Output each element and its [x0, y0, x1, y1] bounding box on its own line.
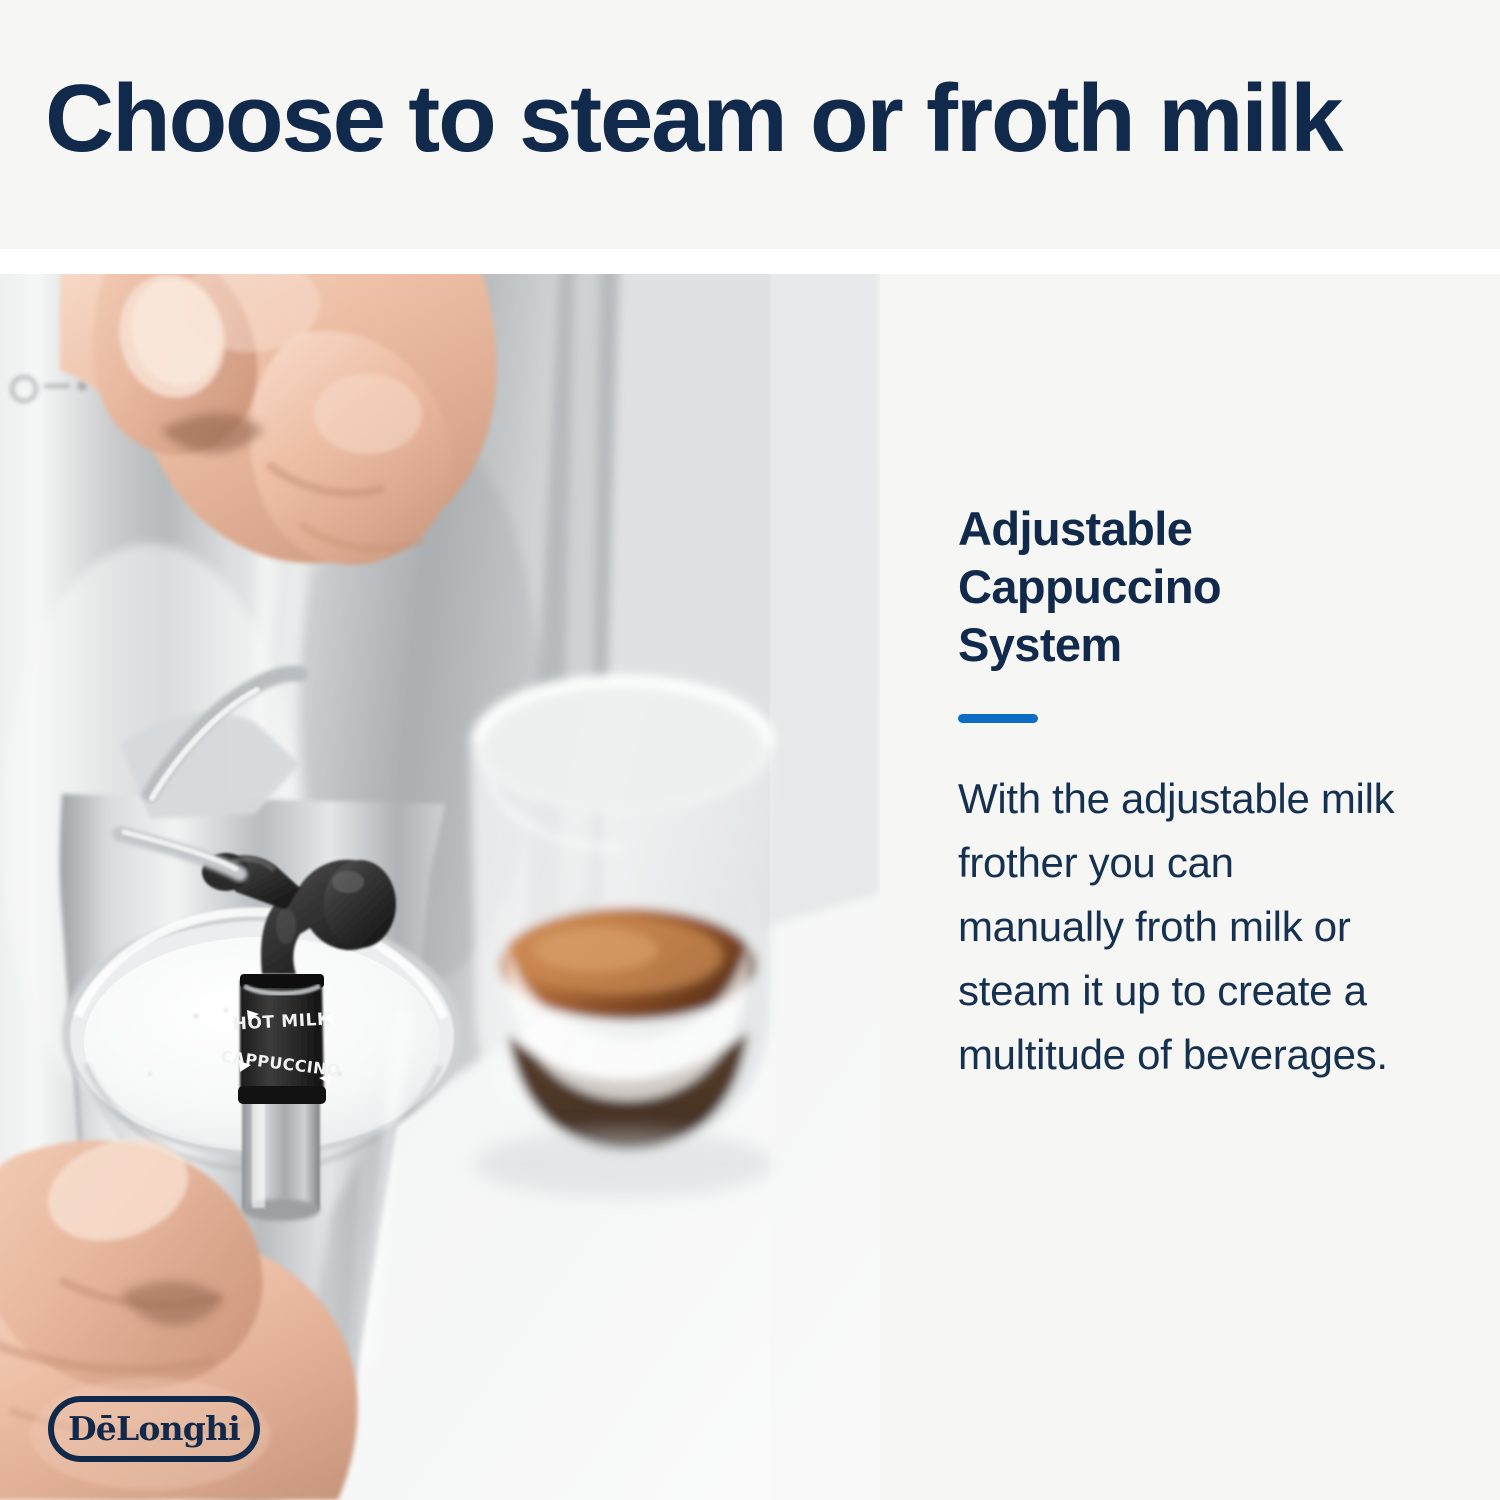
- delonghi-logo: DēLonghi: [48, 1396, 260, 1462]
- feature-text-column: Adjustable Cappuccino System With the ad…: [958, 500, 1418, 1129]
- content-area: HOT MILK CAPPUCCINO: [0, 274, 1500, 1500]
- product-photo: HOT MILK CAPPUCCINO: [0, 274, 880, 1500]
- logo-wordmark: DēLonghi: [48, 1396, 260, 1462]
- header-band: Choose to steam or froth milk: [0, 0, 1500, 249]
- accent-divider: [958, 714, 1038, 723]
- product-photo-illustration: HOT MILK CAPPUCCINO: [0, 274, 880, 1500]
- marketing-banner: Choose to steam or froth milk: [0, 0, 1500, 1500]
- feature-title: Adjustable Cappuccino System: [958, 500, 1328, 674]
- page-title: Choose to steam or froth milk: [45, 64, 1341, 174]
- feature-description: With the adjustable milk frother you can…: [958, 767, 1408, 1087]
- header-divider: [0, 249, 1500, 274]
